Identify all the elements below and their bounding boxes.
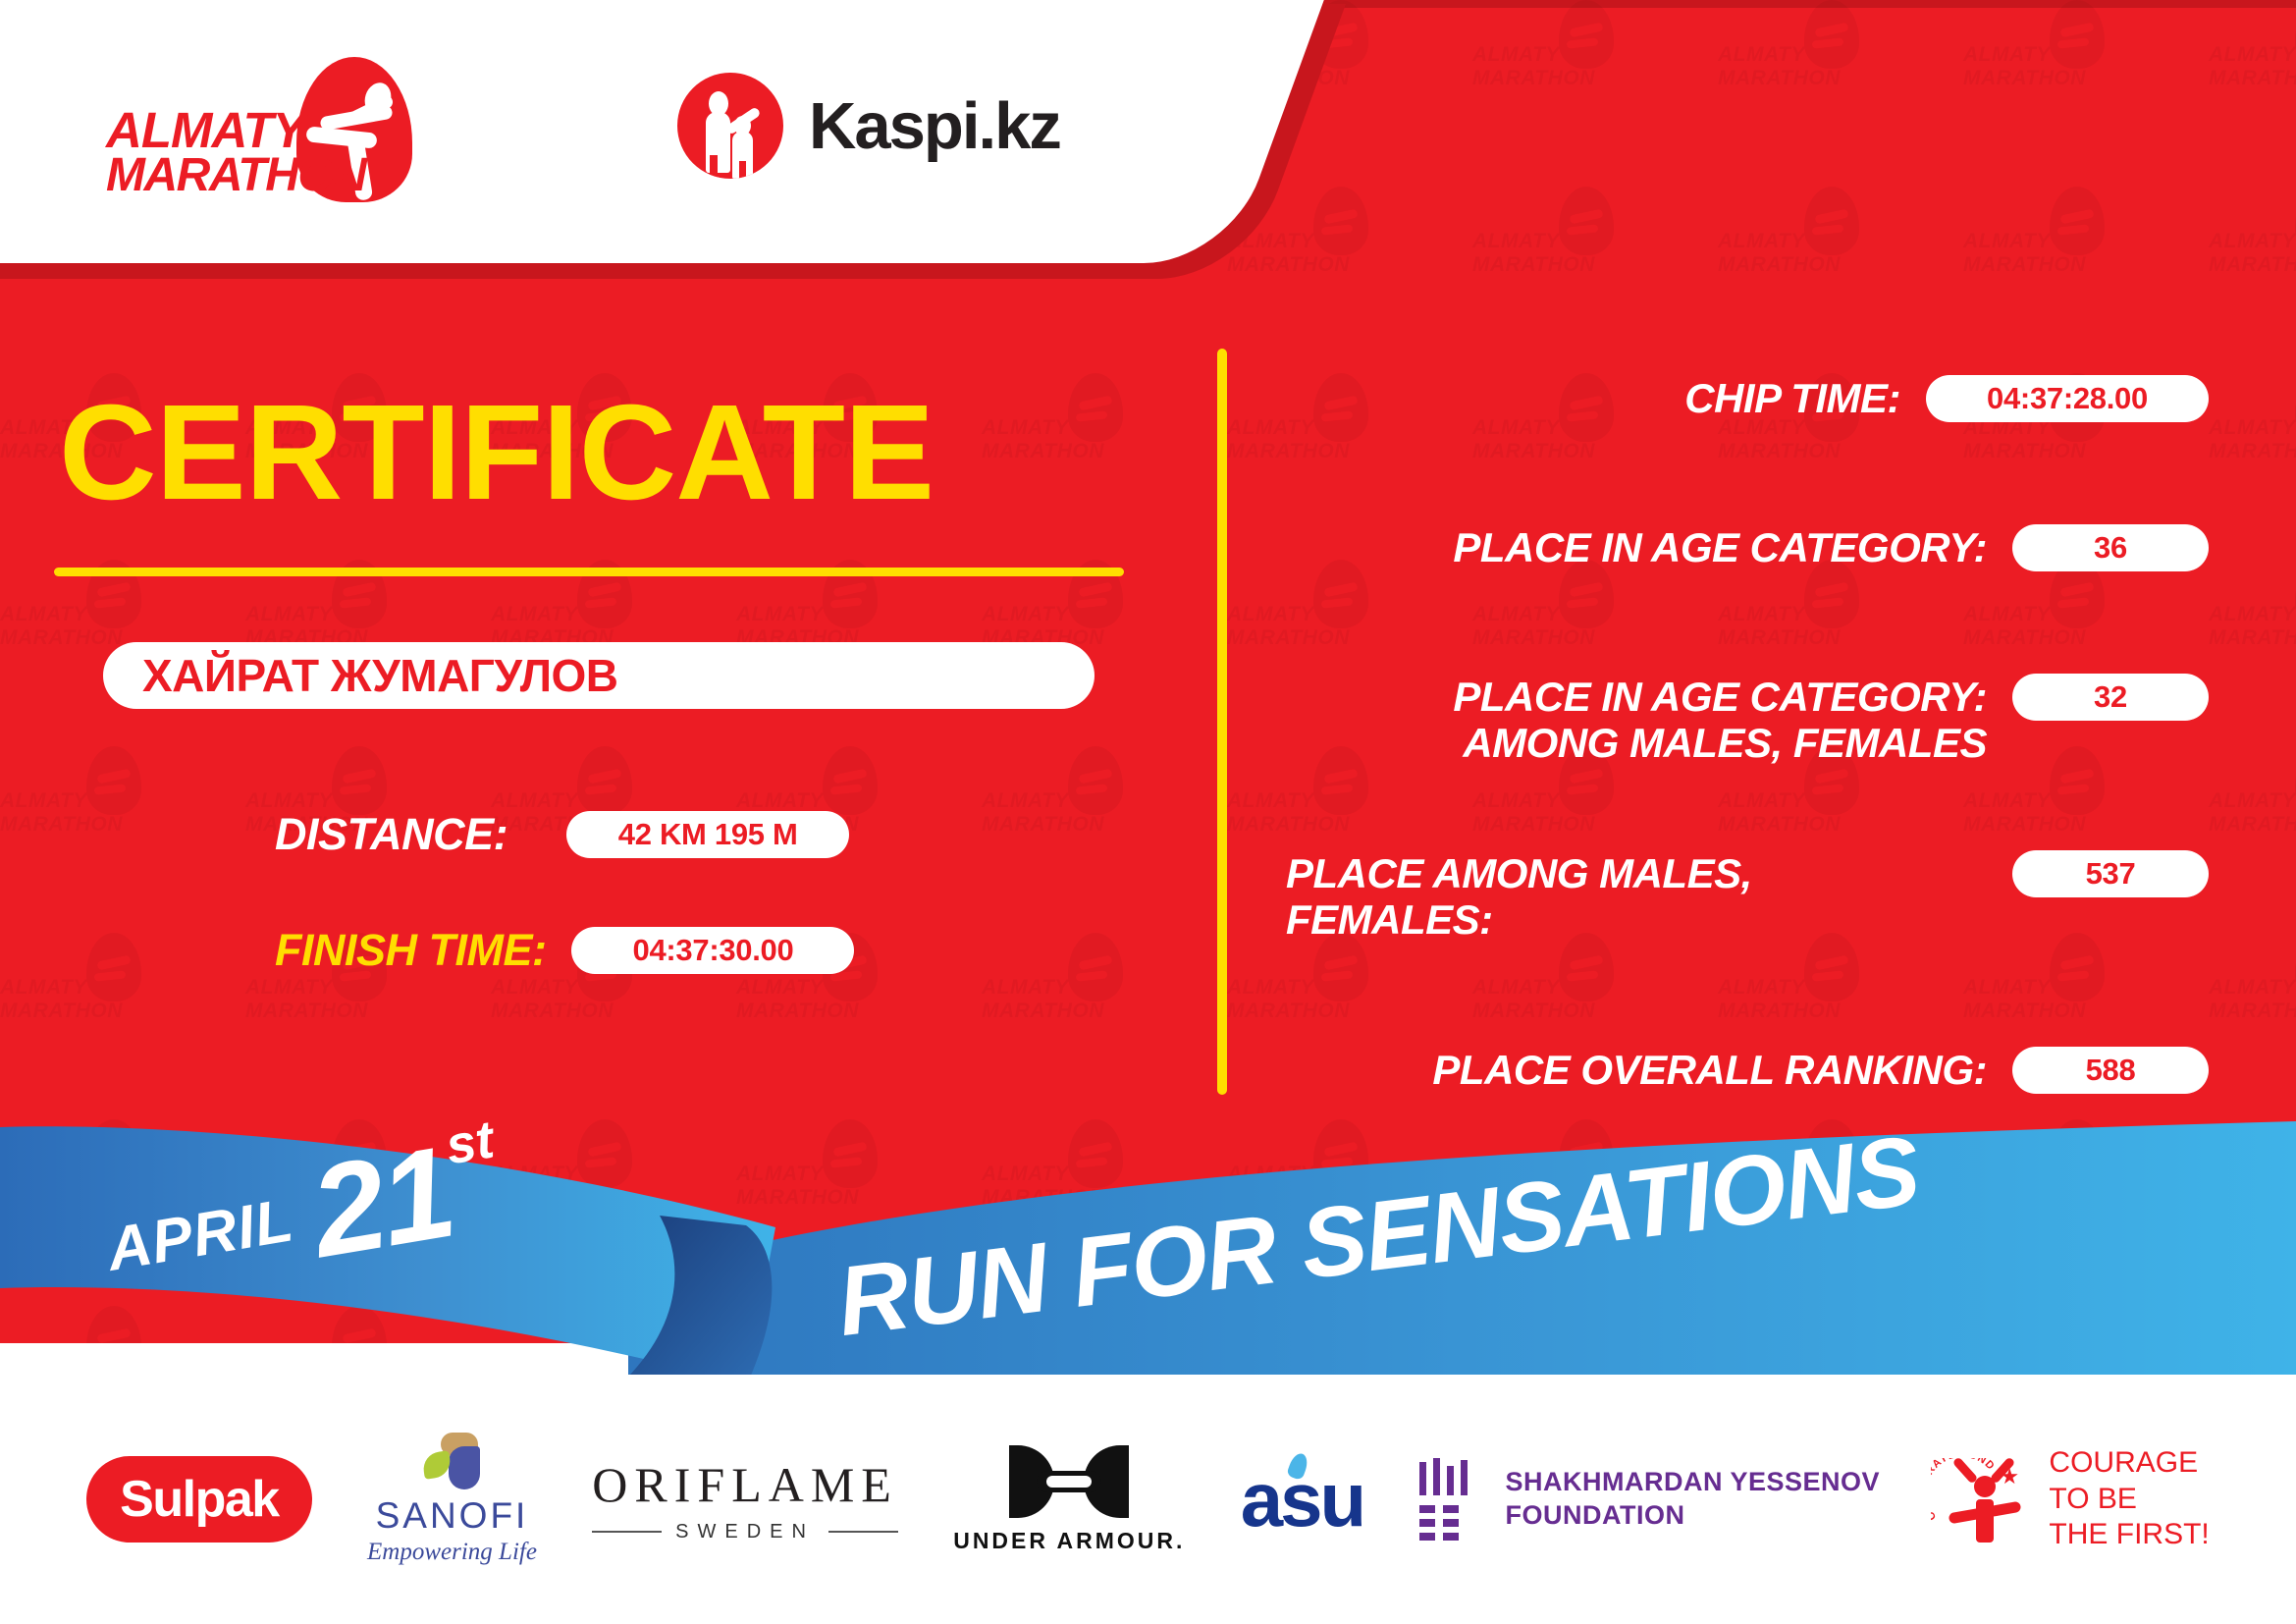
stat-label: PLACE AMONG MALES,: [1286, 850, 1752, 896]
watermark-line1: ALMATY: [1718, 43, 1805, 67]
yessenov-bar-icon: [1461, 1460, 1468, 1495]
watermark-tile: ALMATYMARATHON: [1963, 0, 2110, 108]
almaty-line1: ALMATY: [106, 108, 317, 154]
watermark-line1: ALMATY: [2209, 976, 2296, 1000]
watermark-line1: ALMATY: [1963, 976, 2051, 1000]
yessenov-bar-icon: [1447, 1466, 1454, 1495]
sulpak-wordmark: Sulpak: [120, 1471, 279, 1528]
sponsor-yessenov-foundation: SHAKHMARDAN YESSENOV FOUNDATION: [1419, 1458, 1881, 1541]
watermark-line2: MARATHON: [2209, 626, 2296, 650]
watermark-tile: ALMATYMARATHON: [982, 933, 1129, 1041]
yessenov-bar-icon: [1419, 1462, 1426, 1495]
watermark-line2: MARATHON: [982, 813, 1104, 837]
watermark-line2: MARATHON: [1963, 253, 2086, 277]
watermark-tile: ALMATYMARATHON: [1718, 0, 1865, 108]
watermark-droplet-icon: [1313, 933, 1368, 1001]
watermark-line1: ALMATY: [2209, 230, 2296, 253]
kaspi-child-leg-icon: [739, 161, 746, 179]
watermark-line2: MARATHON: [736, 1000, 859, 1023]
distance-label: DISTANCE:: [275, 809, 507, 860]
sponsor-corporate-fund: CORPORATE FUND ★ COURAGE TO BE THE FIRST…: [1935, 1445, 2209, 1553]
stat-label: CHIP TIME:: [1286, 375, 1926, 421]
watermark-tile: ALMATYMARATHON: [1963, 933, 2110, 1041]
watermark-line1: ALMATY: [982, 789, 1069, 813]
stat-value: 537: [2012, 850, 2209, 897]
watermark-line2: MARATHON: [491, 1000, 614, 1023]
watermark-tile: ALMATYMARATHON: [982, 373, 1129, 481]
page-title: CERTIFICATE: [59, 385, 934, 520]
stats-column: CHIP TIME: 04:37:28.00 PLACE IN AGE CATE…: [1286, 375, 2209, 701]
watermark-line1: ALMATY: [2209, 43, 2296, 67]
watermark-line1: ALMATY: [982, 976, 1069, 1000]
watermark-droplet-icon: [2050, 933, 2105, 1001]
stat-value: 588: [2012, 1047, 2209, 1094]
watermark-line2: MARATHON: [1963, 1000, 2086, 1023]
participant-name: ХАЙРАТ ЖУМАГУЛОВ: [142, 649, 618, 702]
watermark-line2: MARATHON: [1227, 813, 1350, 837]
stat-place-overall: PLACE OVERALL RANKING: 588: [1286, 1047, 2209, 1094]
yessenov-mark-icon: [1419, 1458, 1480, 1541]
watermark-line1: ALMATY: [2209, 789, 2296, 813]
stat-value: 36: [2012, 524, 2209, 571]
stat-place-age-category: PLACE IN AGE CATEGORY: 36: [1286, 524, 2209, 571]
watermark-tile: ALMATYMARATHON: [2209, 933, 2296, 1041]
yessenov-bar-icon: [1419, 1533, 1435, 1541]
yessenov-wordmark: SHAKHMARDAN YESSENOV FOUNDATION: [1506, 1466, 1881, 1533]
watermark-line1: ALMATY: [1472, 976, 1560, 1000]
sulpak-logo: Sulpak: [86, 1456, 312, 1543]
corporate-fund-wordmark: COURAGE TO BE THE FIRST!: [2049, 1445, 2209, 1553]
watermark-droplet-icon: [1804, 0, 1859, 69]
sponsor-sulpak: Sulpak: [86, 1456, 312, 1543]
oriflame-country: SWEDEN: [675, 1521, 815, 1543]
watermark-line1: ALMATY: [0, 789, 87, 813]
watermark-tile: ALMATYMARATHON: [1718, 187, 1865, 295]
watermark-line2: MARATHON: [1718, 253, 1841, 277]
distance-row: DISTANCE: 42 KM 195 M: [275, 809, 849, 860]
watermark-line2: MARATHON: [1472, 813, 1595, 837]
watermark-line1: ALMATY: [1963, 230, 2051, 253]
watermark-line2: MARATHON: [1718, 1000, 1841, 1023]
watermark-line2: MARATHON: [2209, 1000, 2296, 1023]
watermark-droplet-icon: [1559, 187, 1614, 255]
almaty-marathon-logo: ALMATY MARATHON: [106, 57, 430, 204]
oriflame-wordmark: ORIFLAME: [592, 1456, 898, 1513]
yessenov-line1: SHAKHMARDAN YESSENOV: [1506, 1466, 1881, 1499]
yessenov-bar-icon: [1443, 1505, 1459, 1513]
watermark-line2: MARATHON: [0, 626, 123, 650]
watermark-line2: MARATHON: [0, 1000, 123, 1023]
watermark-droplet-icon: [1068, 933, 1123, 1001]
watermark-line1: ALMATY: [1227, 976, 1314, 1000]
watermark-line2: MARATHON: [1963, 813, 2086, 837]
watermark-droplet-icon: [823, 746, 878, 815]
watermark-line1: ALMATY: [491, 976, 578, 1000]
watermark-line1: ALMATY: [2209, 416, 2296, 440]
almaty-marathon-wordmark: ALMATY MARATHON: [106, 108, 317, 197]
distance-value: 42 KM 195 M: [566, 811, 849, 858]
watermark-droplet-icon: [1559, 933, 1614, 1001]
watermark-line1: ALMATY: [1227, 789, 1314, 813]
watermark-line2: MARATHON: [1472, 253, 1595, 277]
watermark-line2: MARATHON: [1718, 67, 1841, 90]
watermark-tile: ALMATYMARATHON: [2209, 0, 2296, 108]
watermark-tile: ALMATYMARATHON: [0, 746, 147, 854]
stat-label: PLACE IN AGE CATEGORY:: [1286, 524, 2012, 570]
watermark-tile: ALMATYMARATHON: [1718, 933, 1865, 1041]
kaspi-family-circle-icon: [677, 73, 783, 179]
title-underline: [54, 568, 1124, 576]
watermark-line1: ALMATY: [0, 603, 87, 626]
stat-label-group: PLACE IN AGE CATEGORY: AMONG MALES, FEMA…: [1286, 674, 2012, 766]
yessenov-bar-icon: [1443, 1533, 1459, 1541]
watermark-droplet-icon: [1068, 373, 1123, 442]
watermark-line1: ALMATY: [1472, 43, 1560, 67]
stat-label-sub: AMONG MALES, FEMALES: [1286, 720, 1987, 766]
watermark-line1: ALMATY: [245, 976, 333, 1000]
stat-place-among-gender: PLACE AMONG MALES, FEMALES: 537: [1286, 850, 2209, 943]
watermark-droplet-icon: [2050, 187, 2105, 255]
sanofi-blue-shape-icon: [449, 1446, 480, 1489]
watermark-line2: MARATHON: [2209, 67, 2296, 90]
yessenov-bar-icon: [1443, 1519, 1459, 1527]
finish-time-label: FINISH TIME:: [275, 925, 546, 976]
watermark-line2: MARATHON: [2209, 813, 2296, 837]
oriflame-rule-right: [828, 1531, 898, 1533]
cf-line2: TO BE: [2049, 1482, 2209, 1518]
oriflame-rule-left: [592, 1531, 662, 1533]
watermark-line1: ALMATY: [1718, 789, 1805, 813]
stat-label-group: PLACE AMONG MALES, FEMALES:: [1286, 850, 2012, 943]
watermark-droplet-icon: [332, 746, 387, 815]
watermark-line2: MARATHON: [1472, 67, 1595, 90]
watermark-tile: ALMATYMARATHON: [0, 933, 147, 1041]
ribbon-day: 21: [304, 1137, 458, 1269]
yessenov-bar-icon: [1419, 1519, 1435, 1527]
stat-label: PLACE OVERALL RANKING:: [1286, 1047, 2012, 1093]
watermark-line1: ALMATY: [982, 416, 1069, 440]
watermark-line1: ALMATY: [1718, 230, 1805, 253]
watermark-line2: MARATHON: [1718, 813, 1841, 837]
under-armour-wordmark: UNDER ARMOUR.: [953, 1528, 1185, 1554]
watermark-line1: ALMATY: [736, 603, 824, 626]
watermark-tile: ALMATYMARATHON: [1963, 187, 2110, 295]
yessenov-bar-icon: [1419, 1505, 1435, 1513]
ribbon-day-suffix: st: [442, 1109, 499, 1176]
yessenov-line2: FOUNDATION: [1506, 1499, 1881, 1533]
watermark-line1: ALMATY: [1718, 976, 1805, 1000]
cf-line1: COURAGE: [2049, 1445, 2209, 1482]
almaty-line2: MARATHON: [106, 154, 317, 197]
watermark-line2: MARATHON: [2209, 440, 2296, 463]
watermark-tile: ALMATYMARATHON: [1472, 187, 1620, 295]
watermark-line2: MARATHON: [1227, 1000, 1350, 1023]
sponsor-bar: Sulpak SANOFI Empowering Life ORIFLAME S…: [0, 1375, 2296, 1624]
watermark-line2: MARATHON: [0, 813, 123, 837]
watermark-line1: ALMATY: [2209, 603, 2296, 626]
watermark-droplet-icon: [1804, 187, 1859, 255]
sanofi-green-leaf-icon: [422, 1450, 453, 1480]
watermark-line2: MARATHON: [2209, 253, 2296, 277]
watermark-tile: ALMATYMARATHON: [1472, 933, 1620, 1041]
watermark-droplet-icon: [86, 746, 141, 815]
sponsor-under-armour: UNDER ARMOUR.: [953, 1445, 1185, 1554]
watermark-line1: ALMATY: [1963, 43, 2051, 67]
yessenov-bar-icon: [1433, 1458, 1440, 1495]
watermark-line2: MARATHON: [1963, 67, 2086, 90]
kaspi-wordmark: Kaspi.kz: [809, 88, 1060, 164]
finish-time-value: 04:37:30.00: [571, 927, 854, 974]
participant-name-field: ХАЙРАТ ЖУМАГУЛОВ: [103, 642, 1095, 709]
watermark-droplet-icon: [2050, 0, 2105, 69]
watermark-line1: ALMATY: [1472, 789, 1560, 813]
ua-crossbar-hole-icon: [1046, 1476, 1092, 1488]
watermark-tile: ALMATYMARATHON: [1227, 933, 1374, 1041]
watermark-droplet-icon: [86, 933, 141, 1001]
sponsor-sanofi: SANOFI Empowering Life: [367, 1433, 537, 1566]
corporate-fund-mark-icon: CORPORATE FUND ★: [1935, 1454, 2033, 1544]
watermark-line2: MARATHON: [982, 1000, 1104, 1023]
stat-chip-time: CHIP TIME: 04:37:28.00: [1286, 375, 2209, 422]
watermark-tile: ALMATYMARATHON: [2209, 187, 2296, 295]
watermark-tile: ALMATYMARATHON: [982, 746, 1129, 854]
watermark-droplet-icon: [577, 746, 632, 815]
vertical-divider: [1217, 349, 1227, 1095]
finish-time-row: FINISH TIME: 04:37:30.00: [275, 925, 854, 976]
ribbon-month: APRIL: [102, 1185, 298, 1285]
watermark-line1: ALMATY: [245, 603, 333, 626]
watermark-line1: ALMATY: [736, 976, 824, 1000]
stat-value: 32: [2012, 674, 2209, 721]
watermark-line1: ALMATY: [491, 603, 578, 626]
sponsor-oriflame: ORIFLAME SWEDEN: [592, 1456, 898, 1543]
stat-label-sub: FEMALES:: [1286, 896, 1987, 943]
watermark-line2: MARATHON: [245, 1000, 368, 1023]
cf-line3: THE FIRST!: [2049, 1517, 2209, 1553]
watermark-line2: MARATHON: [982, 440, 1104, 463]
watermark-droplet-icon: [1804, 933, 1859, 1001]
watermark-tile: ALMATYMARATHON: [2209, 746, 2296, 854]
watermark-tile: ALMATYMARATHON: [2209, 373, 2296, 481]
oriflame-sub-row: SWEDEN: [592, 1521, 898, 1543]
certificate-page: ALMATYMARATHONALMATYMARATHONALMATYMARATH…: [0, 0, 2296, 1624]
watermark-droplet-icon: [1068, 746, 1123, 815]
under-armour-mark-icon: [1009, 1445, 1129, 1518]
watermark-droplet-icon: [1559, 0, 1614, 69]
sanofi-mark-icon: [419, 1433, 484, 1491]
watermark-line1: ALMATY: [1963, 789, 2051, 813]
kaspi-adult-leg-icon: [710, 155, 718, 179]
stat-label: PLACE IN AGE CATEGORY:: [1453, 674, 1987, 720]
sanofi-wordmark: SANOFI: [376, 1495, 529, 1537]
stat-place-age-category-gender: PLACE IN AGE CATEGORY: AMONG MALES, FEMA…: [1286, 674, 2209, 766]
watermark-line1: ALMATY: [1472, 230, 1560, 253]
watermark-tile: ALMATYMARATHON: [2209, 560, 2296, 668]
watermark-line1: ALMATY: [0, 976, 87, 1000]
watermark-line2: MARATHON: [1472, 1000, 1595, 1023]
kaspi-logo: Kaspi.kz: [677, 73, 1060, 179]
stat-value: 04:37:28.00: [1926, 375, 2209, 422]
watermark-tile: ALMATYMARATHON: [1472, 0, 1620, 108]
sponsor-asu: asu: [1241, 1455, 1363, 1544]
watermark-line1: ALMATY: [982, 603, 1069, 626]
sanofi-tagline: Empowering Life: [367, 1539, 537, 1566]
